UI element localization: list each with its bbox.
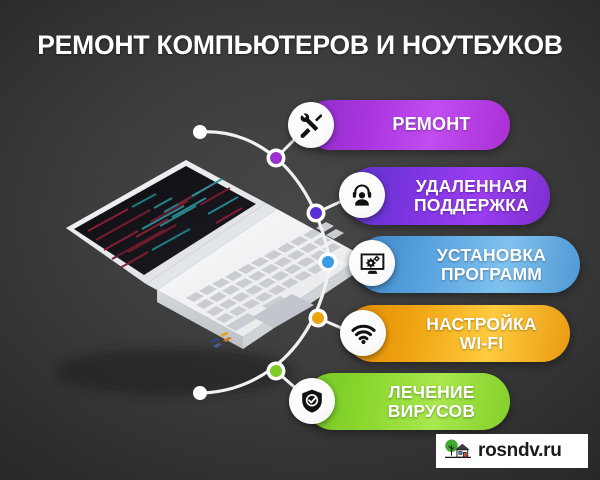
service-label-line1: РЕМОНТ bbox=[358, 115, 480, 134]
arc-endpoint-top bbox=[193, 125, 207, 139]
service-label-line2: ПОДДЕРЖКА bbox=[380, 196, 539, 215]
wifi-glyph bbox=[349, 319, 378, 348]
service-label-line1: УСТАНОВКА bbox=[403, 246, 556, 265]
monitor-gears-icon[interactable] bbox=[349, 240, 395, 286]
arc-endpoint-bottom bbox=[193, 386, 207, 400]
wifi-icon[interactable] bbox=[340, 310, 386, 356]
wrench-screwdriver-glyph bbox=[296, 110, 326, 140]
service-label-line1: НАСТРОЙКА bbox=[392, 315, 546, 334]
poster-canvas: РЕМОНТ КОМПЬЮТЕРОВ И НОУТБУКОВ bbox=[0, 0, 600, 480]
wrench-screwdriver-icon[interactable] bbox=[288, 102, 334, 148]
service-label-line1: УДАЛЕННАЯ bbox=[380, 177, 539, 196]
shield-check-glyph bbox=[298, 387, 326, 415]
service-label-line2: ВИРУСОВ bbox=[354, 402, 485, 421]
laptop-shadow bbox=[55, 348, 295, 396]
headset-support-glyph bbox=[348, 181, 376, 209]
service-label-line1: ЛЕЧЕНИЕ bbox=[354, 383, 485, 402]
watermark-text: rosndv.ru bbox=[478, 440, 562, 462]
service-label-line2: WI-FI bbox=[392, 334, 546, 353]
monitor-gears-glyph bbox=[358, 249, 387, 278]
service-pill-repair[interactable]: РЕМОНТ bbox=[305, 100, 510, 150]
service-label-line2: ПРОГРАММ bbox=[403, 265, 556, 284]
headset-support-icon[interactable] bbox=[339, 172, 385, 218]
house-tree-logo-icon bbox=[443, 438, 473, 464]
service-pill-virus-removal[interactable]: ЛЕЧЕНИЕ ВИРУСОВ bbox=[305, 373, 510, 430]
shield-check-icon[interactable] bbox=[289, 378, 335, 424]
watermark[interactable]: rosndv.ru bbox=[436, 434, 588, 468]
